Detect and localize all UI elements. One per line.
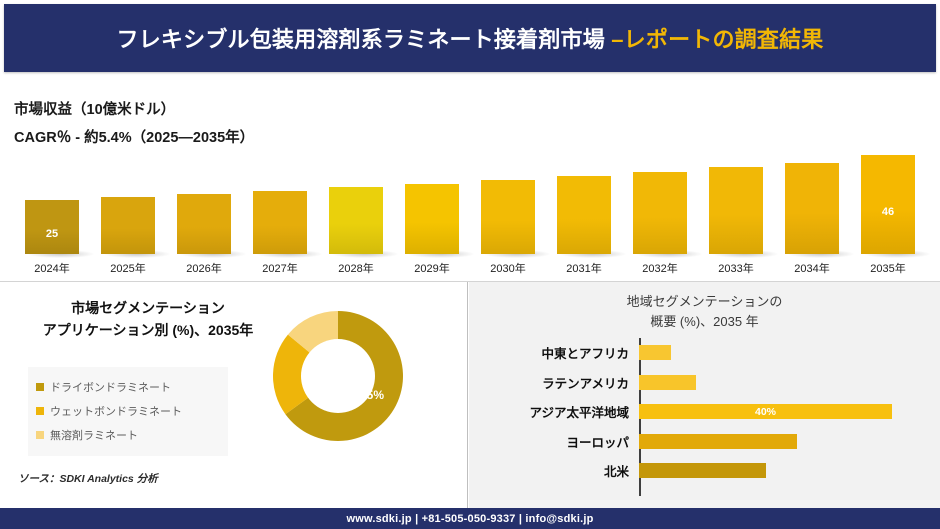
legend-swatch-icon (36, 383, 44, 391)
revenue-bar-group: 252024年 (14, 146, 90, 254)
donut-chart-svg (272, 310, 404, 442)
bar-category-label: 2031年 (546, 260, 622, 276)
revenue-bar (101, 197, 155, 254)
region-bar-row: ラテンアメリカ (491, 368, 921, 398)
footer-banner: www.sdki.jp | +81-505-050-9337 | info@sd… (0, 508, 940, 529)
revenue-bar: 46 (861, 155, 915, 254)
revenue-bar-group: 2025年 (90, 146, 166, 254)
revenue-bar (633, 172, 687, 254)
revenue-bars-area: 252024年2025年2026年2027年2028年2029年2030年203… (14, 146, 926, 280)
revenue-bar-group: 2030年 (470, 146, 546, 254)
revenue-bar-group: 2029年 (394, 146, 470, 254)
donut-legend-label: 無溶剤ラミネート (50, 427, 138, 443)
revenue-bar (557, 176, 611, 254)
bar-category-label: 2025年 (90, 260, 166, 276)
legend-swatch-icon (36, 407, 44, 415)
region-bar-row: 北米 (491, 456, 921, 486)
donut-legend-label: ウェットボンドラミネート (50, 403, 182, 419)
bar-category-label: 2032年 (622, 260, 698, 276)
region-bar (639, 375, 696, 390)
region-chart-title: 地域セグメンテーションの 概要 (%)、2035 年 (469, 292, 940, 331)
region-bars-area: 中東とアフリカラテンアメリカアジア太平洋地域40%ヨーロッパ北米 (491, 338, 921, 496)
revenue-bar-group: 2026年 (166, 146, 242, 254)
region-bar: 40% (639, 404, 892, 419)
region-bar (639, 434, 797, 449)
bar-category-label: 2033年 (698, 260, 774, 276)
donut-legend-item[interactable]: ドライボンドラミネート (36, 375, 222, 399)
bar-value-label: 25 (46, 228, 58, 240)
donut-title-line1: 市場セグメンテーション (24, 298, 272, 320)
footer-contact-text: www.sdki.jp | +81-505-050-9337 | info@sd… (346, 513, 593, 525)
region-bar-row: アジア太平洋地域40% (491, 397, 921, 427)
revenue-bar-group: 2032年 (622, 146, 698, 254)
donut-center-percent-label: 65% (360, 388, 384, 402)
revenue-bar (785, 163, 839, 254)
infographic-page: フレキシブル包装用溶剤系ラミネート接着剤市場 –レポートの調査結果 市場収益（1… (0, 0, 940, 529)
header-banner: フレキシブル包装用溶剤系ラミネート接着剤市場 –レポートの調査結果 (4, 4, 936, 72)
region-title-line2: 概要 (%)、2035 年 (469, 312, 940, 332)
bar-value-label: 46 (882, 206, 894, 218)
revenue-bar: 25 (25, 200, 79, 254)
bar-category-label: 2027年 (242, 260, 318, 276)
legend-swatch-icon (36, 431, 44, 439)
revenue-bars-row: 252024年2025年2026年2027年2028年2029年2030年203… (14, 146, 926, 254)
donut-legend-item[interactable]: 無溶剤ラミネート (36, 423, 222, 447)
bar-category-label: 2029年 (394, 260, 470, 276)
revenue-bar-group: 2028年 (318, 146, 394, 254)
bar-category-label: 2030年 (470, 260, 546, 276)
region-bar-row: 中東とアフリカ (491, 338, 921, 368)
revenue-bar (709, 167, 763, 254)
revenue-bar (481, 180, 535, 254)
revenue-caption: 市場収益（10億米ドル） (14, 98, 175, 119)
donut-legend-label: ドライボンドラミネート (50, 379, 171, 395)
bottom-section: 市場セグメンテーション アプリケーション別 (%)、2035年 ドライボンドラミ… (0, 281, 940, 508)
page-title-main: フレキシブル包装用溶剤系ラミネート接着剤市場 (117, 27, 612, 52)
revenue-bar (405, 184, 459, 254)
bar-category-label: 2034年 (774, 260, 850, 276)
revenue-bar-chart-panel: 市場収益（10億米ドル） CAGR％ - 約5.4%（2025―2035年） 2… (0, 76, 940, 280)
region-category-label: ヨーロッパ (491, 432, 639, 451)
bar-category-label: 2035年 (850, 260, 926, 276)
region-category-label: 北米 (491, 461, 639, 480)
revenue-bar-group: 2033年 (698, 146, 774, 254)
bar-category-label: 2028年 (318, 260, 394, 276)
page-title-sub: –レポートの調査結果 (611, 27, 823, 52)
revenue-bar (329, 187, 383, 254)
region-bar-row: ヨーロッパ (491, 427, 921, 457)
region-bar (639, 463, 766, 478)
region-category-label: ラテンアメリカ (491, 373, 639, 392)
cagr-caption: CAGR％ - 約5.4%（2025―2035年） (14, 126, 254, 147)
bar-category-label: 2026年 (166, 260, 242, 276)
donut-title-line2: アプリケーション別 (%)、2035年 (24, 320, 272, 342)
bar-category-label: 2024年 (14, 260, 90, 276)
region-bar-value-label: 40% (755, 406, 776, 418)
source-note: ソース：SDKI Analytics 分析 (18, 471, 158, 486)
region-category-label: アジア太平洋地域 (491, 402, 639, 421)
revenue-bar (177, 194, 231, 254)
revenue-bar-group: 2034年 (774, 146, 850, 254)
application-segmentation-panel: 市場セグメンテーション アプリケーション別 (%)、2035年 ドライボンドラミ… (0, 282, 468, 509)
revenue-bar-group: 462035年 (850, 146, 926, 254)
revenue-bar-group: 2031年 (546, 146, 622, 254)
regional-segmentation-panel: 地域セグメンテーションの 概要 (%)、2035 年 中東とアフリカラテンアメリ… (469, 282, 940, 509)
donut-legend: ドライボンドラミネートウェットボンドラミネート無溶剤ラミネート (28, 367, 228, 456)
donut-chart-title: 市場セグメンテーション アプリケーション別 (%)、2035年 (24, 298, 272, 341)
region-title-line1: 地域セグメンテーションの (469, 292, 940, 312)
region-category-label: 中東とアフリカ (491, 343, 639, 362)
region-bar (639, 345, 671, 360)
revenue-bar-group: 2027年 (242, 146, 318, 254)
revenue-bar (253, 191, 307, 254)
donut-chart: 65% (272, 310, 404, 442)
page-title: フレキシブル包装用溶剤系ラミネート接着剤市場 –レポートの調査結果 (117, 22, 824, 54)
donut-legend-item[interactable]: ウェットボンドラミネート (36, 399, 222, 423)
